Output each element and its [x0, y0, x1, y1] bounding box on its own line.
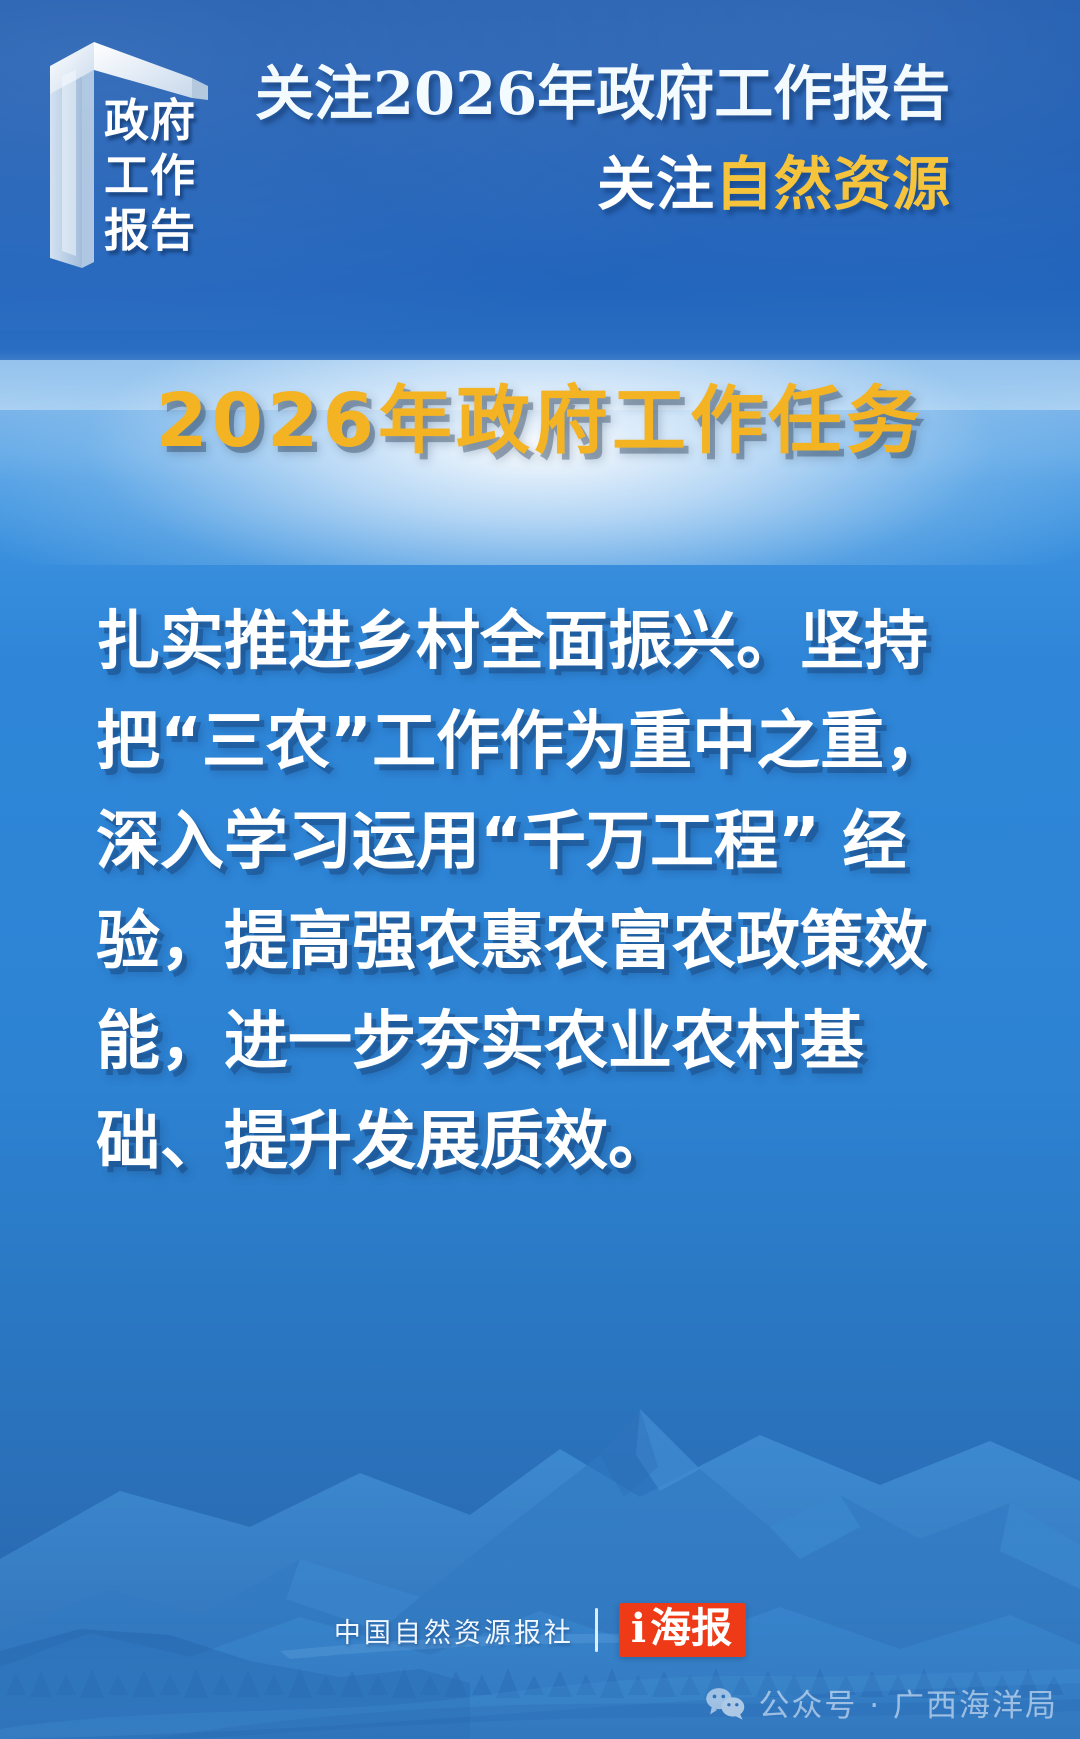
ihaibao-badge-text: 海报 [650, 1608, 732, 1649]
wechat-icon [704, 1686, 746, 1720]
body-paragraph: 扎实推进乡村全面振兴。坚持 把“三农”工作作为重中之重， 深入学习运用“千万工程… [96, 592, 984, 1192]
header-title-secondary-white: 关注 [597, 150, 715, 218]
body-line: 深入学习运用“千万工程” 经 [96, 792, 984, 892]
body-line: 能，进一步夯实农业农村基 [96, 992, 984, 1092]
page-title: 2026年政府工作任务 [0, 384, 1080, 458]
ihaibao-badge: i 海报 [619, 1603, 746, 1657]
body-line: 验，提高强农惠农富农政策效 [96, 892, 984, 992]
ihaibao-badge-letter: i [631, 1609, 646, 1649]
book-logo-line-1: 政府 [104, 98, 196, 143]
body-line: 把“三农”工作作为重中之重， [96, 692, 984, 792]
book-logo-line-3: 报告 [104, 208, 196, 253]
header-title-block: 关注2026年政府工作报告 关注自然资源 [255, 62, 955, 215]
footer-divider [595, 1608, 598, 1652]
wechat-watermark-text: 公众号 · 广西海洋局 [758, 1680, 1058, 1725]
poster-footer: 中国自然资源报社 i 海报 [0, 1590, 1080, 1670]
poster-root: 政府 工作 报告 关注2026年政府工作报告 关注自然资源 2026年政府工作任… [0, 0, 1080, 1739]
header-title-secondary-gold: 自然资源 [715, 150, 951, 218]
publisher-name: 中国自然资源报社 [334, 1611, 574, 1650]
body-line: 础、提升发展质效。 [96, 1092, 984, 1192]
footer-content: 中国自然资源报社 i 海报 [334, 1603, 746, 1657]
book-logo-text: 政府 工作 报告 [98, 98, 202, 253]
header-title-secondary: 关注自然资源 [255, 153, 955, 216]
government-report-book-icon: 政府 工作 报告 [42, 36, 210, 268]
book-logo-line-2: 工作 [104, 153, 196, 198]
body-line: 扎实推进乡村全面振兴。坚持 [96, 592, 984, 692]
poster-header: 政府 工作 报告 关注2026年政府工作报告 关注自然资源 [0, 0, 1080, 300]
wechat-watermark: 公众号 · 广西海洋局 [704, 1680, 1058, 1725]
header-title-primary: 关注2026年政府工作报告 [255, 62, 955, 126]
